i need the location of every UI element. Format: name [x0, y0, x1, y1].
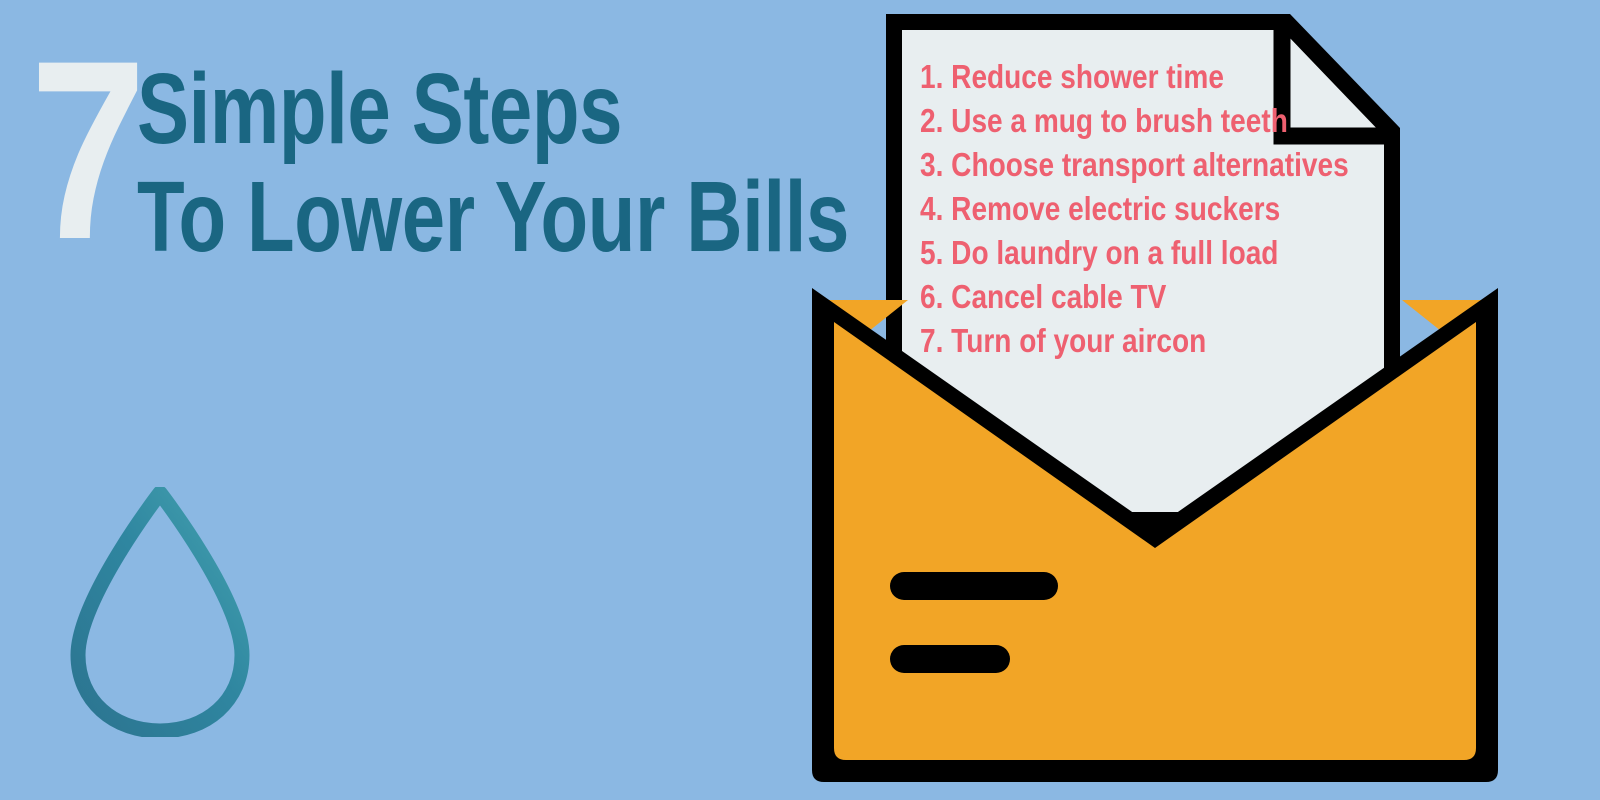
letter-list-item: 3. Choose transport alternatives	[920, 143, 1311, 187]
headline-line-1: Simple Steps	[137, 55, 730, 163]
letter-list-item: 2. Use a mug to brush teeth	[920, 99, 1311, 143]
letter-list-item: 4. Remove electric suckers	[920, 187, 1311, 231]
leaf-droplet-icon	[70, 487, 250, 737]
envelope-address-line-2	[890, 645, 1010, 673]
letter-list-item: 1. Reduce shower time	[920, 55, 1311, 99]
letter-list-item: 7. Turn of your aircon	[920, 319, 1311, 363]
banner-canvas: 7 Simple Steps To Lower Your Bills	[0, 0, 1600, 800]
letter-list: 1. Reduce shower time 2. Use a mug to br…	[920, 55, 1380, 363]
headline-number: 7	[30, 36, 141, 266]
envelope-illustration: 1. Reduce shower time 2. Use a mug to br…	[790, 0, 1520, 790]
headline-block: 7 Simple Steps To Lower Your Bills	[0, 0, 900, 300]
headline-line-2: To Lower Your Bills	[137, 163, 730, 271]
headline-text: Simple Steps To Lower Your Bills	[137, 55, 897, 271]
letter-list-item: 6. Cancel cable TV	[920, 275, 1311, 319]
letter-list-item: 5. Do laundry on a full load	[920, 231, 1311, 275]
envelope-address-line-1	[890, 572, 1058, 600]
